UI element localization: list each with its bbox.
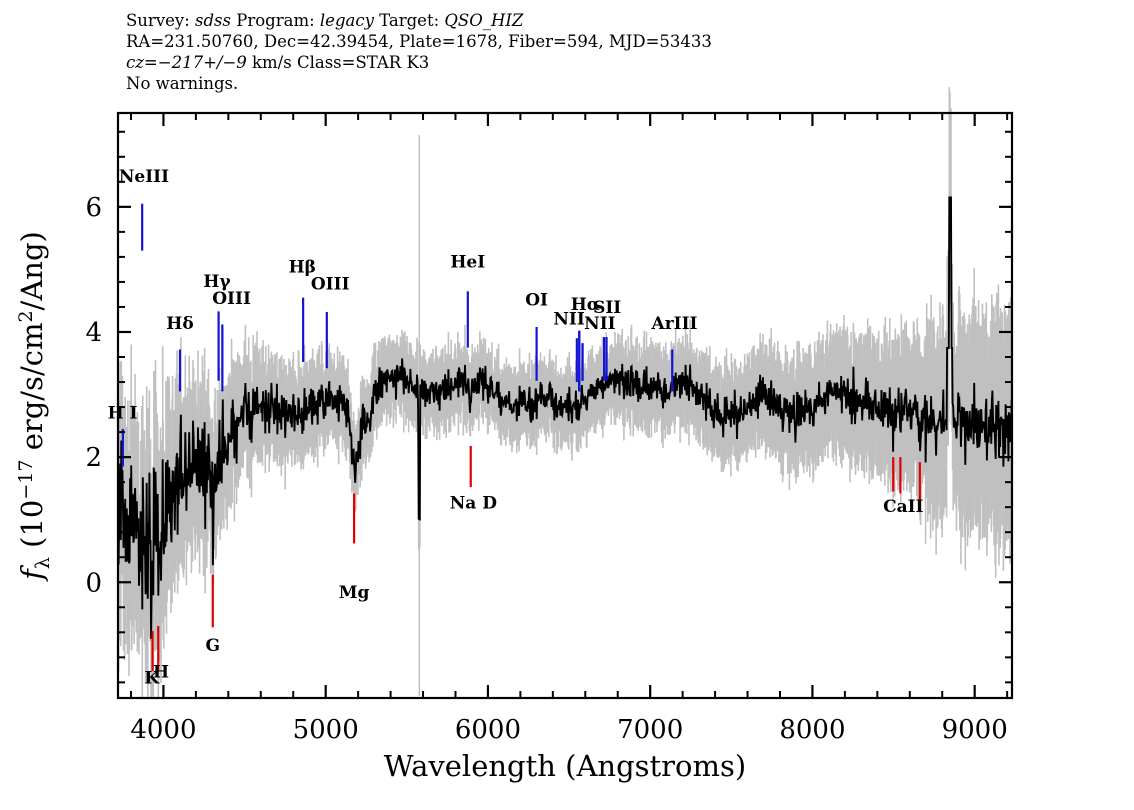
x-tick-label-5: 9000: [942, 715, 1008, 745]
emission-label-7: HeI: [450, 253, 485, 273]
x-tick-label-3: 7000: [617, 715, 683, 745]
spectrum-plot: H INeIIIHδHγOIIIHβOIIIHeIOINIIHαNIISIIAr…: [0, 0, 1134, 810]
absorption-label-3: Mg: [339, 583, 370, 603]
emission-label-6: OIII: [311, 274, 350, 294]
emission-label-12: SII: [593, 298, 621, 318]
emission-label-0: H I: [108, 403, 138, 423]
y-tick-label-2: 4: [85, 318, 102, 348]
x-tick-label-0: 4000: [130, 715, 196, 745]
y-tick-label-3: 6: [85, 193, 102, 223]
absorption-label-4: Na D: [450, 493, 497, 513]
y-axis-title: fλ (10−17 erg/s/cm2/Ang): [15, 231, 54, 582]
x-tick-label-2: 6000: [455, 715, 521, 745]
x-tick-label-1: 5000: [293, 715, 359, 745]
y-tick-label-1: 2: [85, 443, 102, 473]
emission-label-1: NeIII: [119, 167, 169, 187]
emission-label-13: ArIII: [651, 314, 698, 334]
absorption-label-2: G: [205, 636, 220, 656]
x-tick-label-4: 8000: [779, 715, 845, 745]
x-axis-title: Wavelength (Angstroms): [384, 749, 746, 783]
emission-label-2: Hδ: [166, 314, 193, 334]
absorption-label-5: CaII: [883, 497, 923, 517]
emission-label-8: OI: [525, 291, 548, 311]
emission-label-4: OIII: [212, 289, 251, 309]
y-tick-label-0: 0: [85, 568, 102, 598]
absorption-label-1: H: [153, 662, 169, 682]
